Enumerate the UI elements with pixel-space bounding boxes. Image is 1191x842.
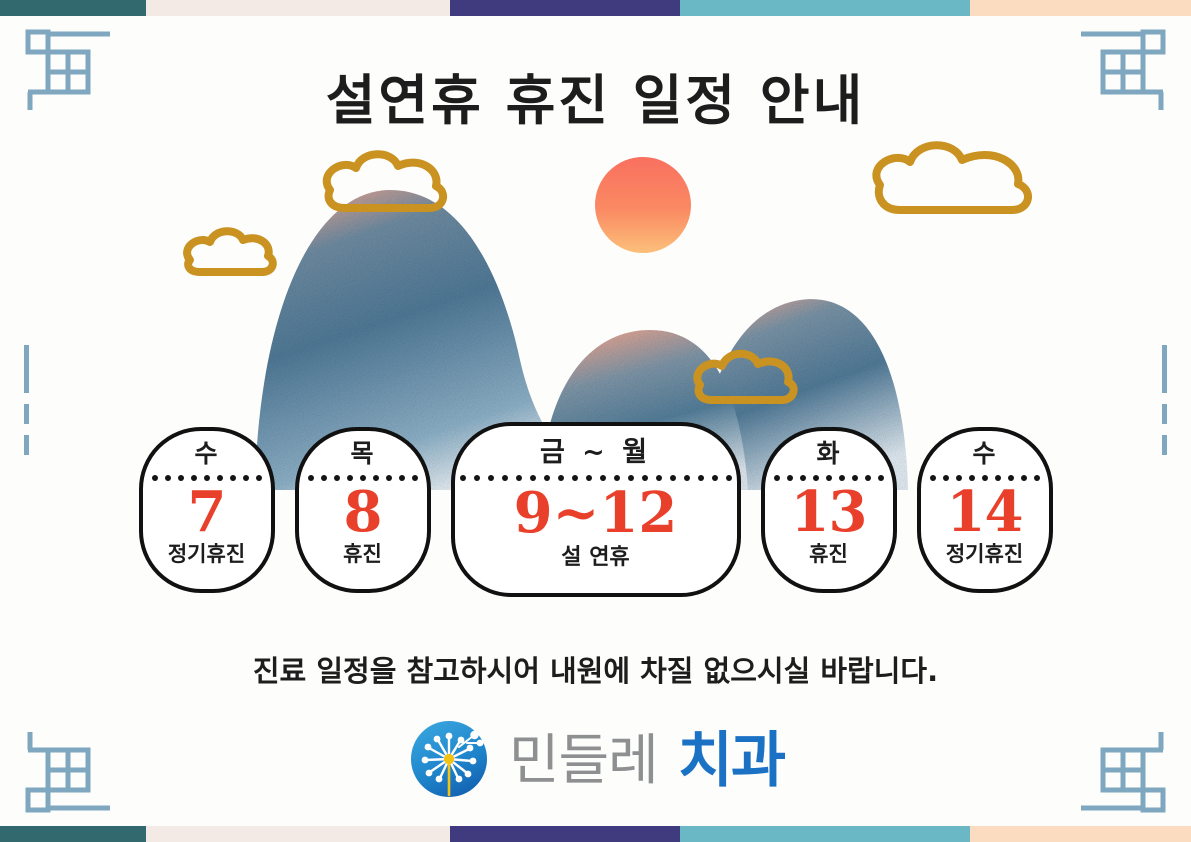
top-bar-segment-teal-light [680,0,970,16]
divider-dot [178,475,184,481]
top-bar-segment-teal-dark [0,0,146,16]
schedule-capsule: 목8휴진 [295,427,431,593]
clinic-logo: 민들레 치과 [0,713,1191,808]
divider-dot [460,475,466,481]
capsule-note: 휴진 [809,543,848,566]
schedule-capsule: 수7정기휴진 [139,427,275,593]
top-bar-segment-peach [970,0,1191,16]
page-title: 설연휴 휴진 일정 안내 [0,56,1191,135]
holiday-notice-poster: 설연휴 휴진 일정 안내 [0,0,1191,842]
capsule-weekday: 목 [350,440,374,468]
top-bar-segment-cream [146,0,450,16]
divider-dot [488,475,494,481]
capsule-date: 9~12 [514,484,678,543]
bottom-color-bar [0,826,1191,842]
divider-dot [698,475,704,481]
dandelion-icon [407,717,495,805]
divider-dot [321,475,327,481]
capsule-weekday: 화 [816,440,840,468]
divider-dot [930,475,936,481]
sun-shape [595,157,691,253]
capsule-weekday: 수 [194,440,218,468]
divider-dot [399,475,405,481]
logo-name-light: 민들레 [509,733,658,788]
capsule-weekday: 수 [972,440,996,468]
schedule-capsule: 수14정기휴진 [917,427,1053,593]
capsule-date: 14 [947,483,1023,542]
bottom-bar-segment-teal-dark [0,826,146,842]
footer-message: 진료 일정을 참고하시어 내원에 차질 없으시실 바랍니다. [0,648,1191,690]
top-bar-segment-indigo [450,0,680,16]
divider-dot [152,475,158,481]
cloud-right-icon [876,145,1028,210]
schedule-capsule: 화13휴진 [761,427,897,593]
capsule-note: 휴진 [343,543,382,566]
capsule-date: 8 [344,483,382,542]
divider-dot [502,475,508,481]
divider-dot [165,475,171,481]
cloud-left-icon [187,231,273,272]
bottom-bar-segment-peach [970,826,1191,842]
divider-dot [386,475,392,481]
divider-dot [230,475,236,481]
divider-dot [684,475,690,481]
logo-name-bold: 치과 [678,731,784,791]
schedule-capsule: 금 ~ 월9~12설 연휴 [451,422,741,597]
divider-dot [474,475,480,481]
divider-dot [256,475,262,481]
divider-dot [878,475,884,481]
top-color-bar [0,0,1191,16]
divider-dot [774,475,780,481]
capsule-note: 정기휴진 [946,543,1023,566]
divider-dot [726,475,732,481]
divider-dot [334,475,340,481]
capsule-date: 13 [791,483,867,542]
capsule-weekday: 금 ~ 월 [540,438,651,468]
bottom-bar-segment-teal-light [680,826,970,842]
schedule-capsule-row: 수7정기휴진목8휴진금 ~ 월9~12설 연휴화13휴진수14정기휴진 [0,422,1191,597]
bottom-bar-segment-cream [146,826,450,842]
divider-dot [712,475,718,481]
divider-dot [412,475,418,481]
capsule-note: 설 연휴 [561,546,629,570]
bottom-bar-segment-indigo [450,826,680,842]
divider-dot [308,475,314,481]
divider-dot [243,475,249,481]
capsule-note: 정기휴진 [168,543,245,566]
divider-dot [1034,475,1040,481]
capsule-date: 7 [188,483,226,542]
